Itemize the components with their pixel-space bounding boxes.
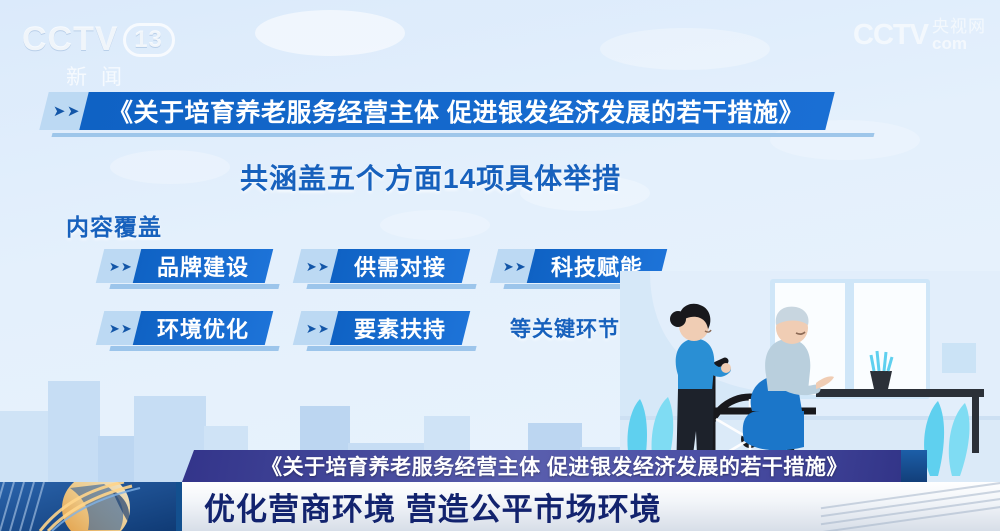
cloud-decoration bbox=[380, 210, 490, 240]
page-title: 《关于培育养老服务经营主体 促进银发经济发展的若干措施》 bbox=[108, 93, 804, 129]
coverage-chip[interactable]: ➤➤ 品牌建设 bbox=[100, 249, 269, 283]
chip-label: 供需对接 bbox=[354, 250, 446, 282]
chip-body: 品牌建设 bbox=[133, 249, 273, 283]
cloud-decoration bbox=[110, 150, 230, 184]
coverage-chip[interactable]: ➤➤ 要素扶持 bbox=[297, 311, 466, 345]
chip-label: 要素扶持 bbox=[354, 312, 446, 344]
watermark-cctv-text: CCTV bbox=[853, 19, 928, 52]
cctv-logo-subtitle: 新闻 bbox=[22, 61, 208, 91]
chip-shadow bbox=[109, 284, 279, 289]
cctv-com-watermark: CCTV 央视网 com bbox=[853, 14, 986, 56]
headline-text: 优化营商环境 营造公平市场环境 bbox=[204, 484, 662, 529]
watermark-chinese-text: 央视网 bbox=[932, 18, 986, 35]
chip-label: 环境优化 bbox=[157, 312, 249, 344]
coverage-chip[interactable]: ➤➤ 环境优化 bbox=[100, 311, 269, 345]
headline-stripe-decoration bbox=[780, 482, 1000, 531]
title-underline-decoration bbox=[52, 133, 875, 137]
main-title-banner: ➤➤ 《关于培育养老服务经营主体 促进银发经济发展的若干措施》 bbox=[44, 92, 830, 130]
chip-body: 环境优化 bbox=[133, 311, 273, 345]
subtitle-text: 共涵盖五个方面14项具体举措 bbox=[240, 157, 621, 197]
watermark-com-text: com bbox=[932, 35, 986, 52]
chip-shadow bbox=[306, 346, 476, 351]
broadcast-screen: CCTV 13 新闻 CCTV 央视网 com ➤➤ 《关于培育养老服务经营主体… bbox=[0, 0, 1000, 531]
chip-shadow bbox=[109, 346, 279, 351]
cctv13-channel-logo: CCTV 13 新闻 bbox=[22, 20, 208, 86]
chip-body: 供需对接 bbox=[330, 249, 470, 283]
lower-third-bar: 优化营商环境 营造公平市场环境 bbox=[0, 482, 1000, 531]
chip-shadow bbox=[306, 284, 476, 289]
cloud-decoration bbox=[600, 28, 770, 70]
lower-third-headline-bar: 优化营商环境 营造公平市场环境 bbox=[182, 482, 1000, 531]
chip-body: 要素扶持 bbox=[330, 311, 470, 345]
lower-third-topic-strip: 《关于培育养老服务经营主体 促进银发经济发展的若干措施》 bbox=[182, 450, 927, 482]
coverage-tail-text: 等关键环节 bbox=[510, 313, 620, 343]
cloud-decoration bbox=[255, 10, 405, 56]
topic-strip-end-cap bbox=[901, 450, 927, 482]
cctv-news-globe-icon bbox=[0, 482, 182, 531]
cctv-logo-text: CCTV bbox=[22, 20, 119, 59]
cctv-logo-number: 13 bbox=[123, 23, 175, 57]
main-title-plate: 《关于培育养老服务经营主体 促进银发经济发展的若干措施》 bbox=[79, 92, 834, 130]
lower-third-topic-text: 《关于培育养老服务经营主体 促进银发经济发展的若干措施》 bbox=[261, 451, 848, 481]
chip-label: 品牌建设 bbox=[157, 250, 249, 282]
coverage-chip-row-1: ➤➤ 品牌建设 ➤➤ 供需对接 ➤➤ 科技赋能 bbox=[100, 249, 663, 283]
coverage-chip-row-2: ➤➤ 环境优化 ➤➤ 要素扶持 等关键环节 bbox=[100, 311, 620, 345]
coverage-chip[interactable]: ➤➤ 供需对接 bbox=[297, 249, 466, 283]
content-coverage-label: 内容覆盖 bbox=[66, 208, 162, 242]
